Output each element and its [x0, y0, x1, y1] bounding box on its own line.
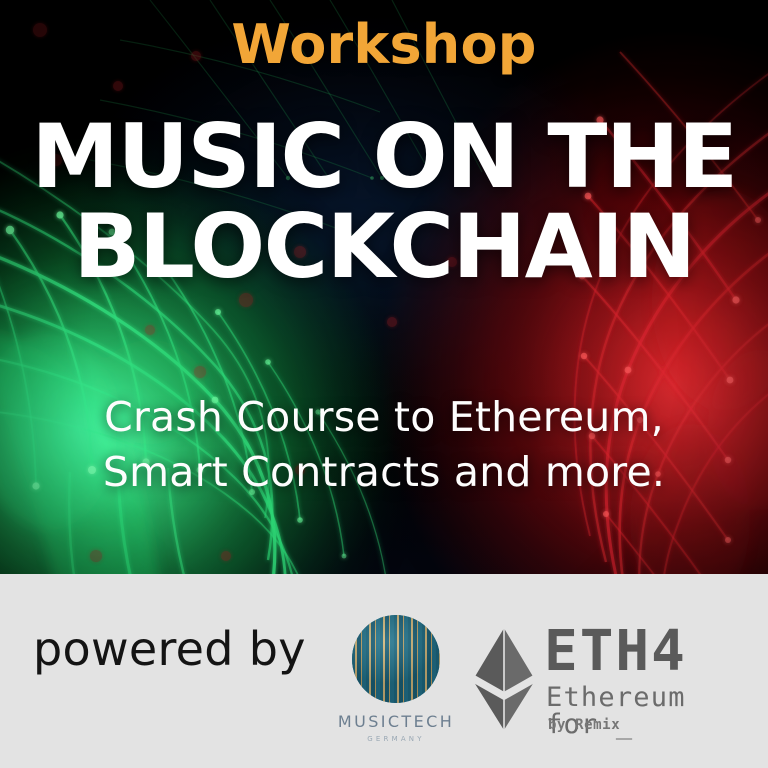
musictech-tagline: GERMANY	[334, 735, 458, 743]
eth4-logo: ETH4 Ethereum for _ by Remix	[472, 622, 752, 742]
disc-sheen	[352, 615, 440, 703]
eth4-attribution: by Remix	[548, 718, 620, 732]
musictech-wordmark: MUSICTECH	[334, 712, 458, 731]
musictech-logo: MUSICTECH GERMANY	[334, 615, 458, 755]
headline-line-2: BLOCKCHAIN	[0, 202, 768, 292]
subtitle-line-1: Crash Course to Ethereum,	[104, 393, 664, 441]
subtitle-line-2: Smart Contracts and more.	[0, 445, 768, 500]
poster-headline: MUSIC ON THE BLOCKCHAIN	[0, 112, 768, 292]
poster-canvas: Workshop MUSIC ON THE BLOCKCHAIN Crash C…	[0, 0, 768, 768]
headline-line-1: MUSIC ON THE	[31, 105, 736, 208]
powered-by-label: powered by	[33, 626, 306, 672]
ethereum-diamond-icon	[472, 624, 536, 732]
poster-kicker: Workshop	[0, 18, 768, 72]
eth4-wordmark: ETH4	[544, 624, 687, 680]
poster-subtitle: Crash Course to Ethereum, Smart Contract…	[0, 390, 768, 501]
striped-disc-icon	[352, 615, 440, 703]
sponsor-footer-bar: powered by MUSICTECH GERMANY	[0, 574, 768, 768]
poster-content: Workshop MUSIC ON THE BLOCKCHAIN Crash C…	[0, 0, 768, 574]
